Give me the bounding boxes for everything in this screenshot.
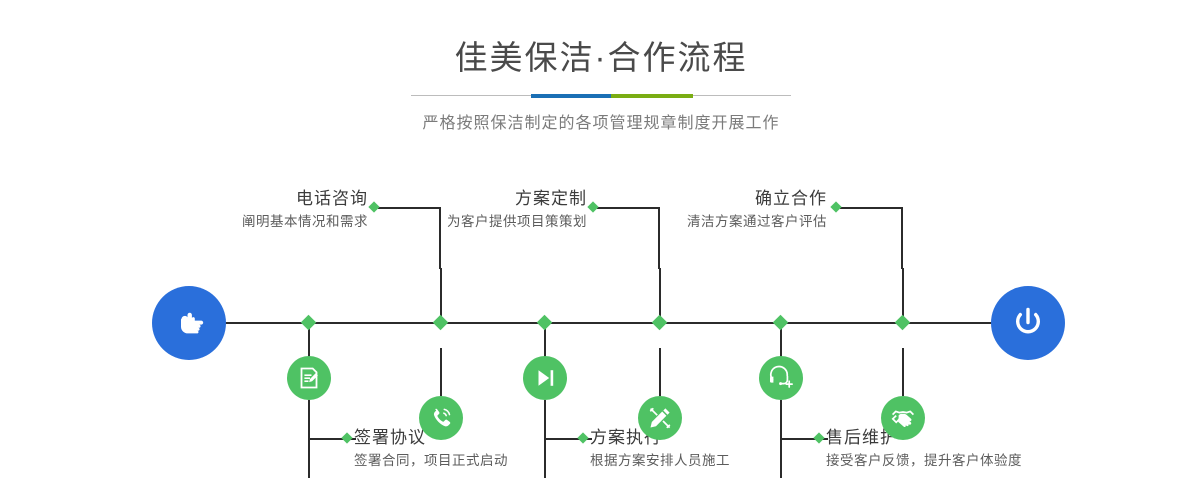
connector-horizontal-step-1 [378,207,441,209]
connector-elbow-step-3 [658,207,660,269]
step-label-6: 售后维护 接受客户反馈，提升客户体验度 [826,427,1116,471]
step-label-5: 确立合作 清洁方案通过客户评估 [580,188,827,232]
step-desc-4: 根据方案安排人员施工 [590,449,850,471]
label-marker-step-2 [341,432,352,443]
axis-marker-step-6 [773,315,789,331]
step-label-1: 电话咨询 阐明基本情况和需求 [120,188,368,232]
timeline-end-node [991,286,1065,360]
header: 佳美保洁·合作流程 严格按照保洁制定的各项管理规章制度开展工作 [0,0,1202,133]
handshake-icon [890,405,916,431]
connector-vertical-step-3-lower [659,348,661,396]
step-node-1[interactable] [419,396,463,440]
page-title: 佳美保洁·合作流程 [0,0,1202,80]
divider-segment-blue [531,94,611,98]
connector-vertical-step-1-lower [440,348,442,396]
connector-vertical-step-5-lower [902,348,904,396]
step-node-2[interactable] [287,356,331,400]
title-divider [411,92,791,100]
pointing-hand-icon [169,303,209,343]
divider-segment-green [611,94,693,98]
play-next-icon [532,365,558,391]
process-timeline: 电话咨询 阐明基本情况和需求 签署协议 签署合同，项目正式启动 [0,160,1202,502]
step-desc-2: 签署合同，项目正式启动 [354,449,614,471]
connector-elbow-step-5 [901,207,903,269]
connector-elbow-step-1 [439,207,441,269]
step-node-4[interactable] [523,356,567,400]
axis-marker-step-1 [433,315,449,331]
step-label-3: 方案定制 为客户提供项目策策划 [340,188,587,232]
step-desc-3: 为客户提供项目策策划 [340,210,587,232]
step-desc-5: 清洁方案通过客户评估 [580,210,827,232]
axis-marker-step-5 [895,315,911,331]
label-marker-step-5 [830,201,841,212]
document-edit-icon [296,365,322,391]
axis-marker-step-2 [301,315,317,331]
power-icon [1007,302,1049,344]
phone-call-icon [428,405,454,431]
step-desc-6: 接受客户反馈，提升客户体验度 [826,449,1116,471]
axis-marker-step-3 [652,315,668,331]
timeline-start-node [152,286,226,360]
step-label-2: 签署协议 签署合同，项目正式启动 [354,427,614,471]
step-node-3[interactable] [638,396,682,440]
pencil-ruler-icon [647,405,673,431]
step-title-1: 电话咨询 [120,188,368,210]
page-subtitle: 严格按照保洁制定的各项管理规章制度开展工作 [0,100,1202,133]
step-node-6[interactable] [759,356,803,400]
step-node-5[interactable] [881,396,925,440]
axis-marker-step-4 [537,315,553,331]
step-label-4: 方案执行 根据方案安排人员施工 [590,427,850,471]
connector-horizontal-step-3 [597,207,660,209]
step-title-6: 售后维护 [826,427,1116,449]
cooperation-process-infographic: 佳美保洁·合作流程 严格按照保洁制定的各项管理规章制度开展工作 [0,0,1202,502]
connector-horizontal-step-5 [840,207,903,209]
step-desc-1: 阐明基本情况和需求 [120,210,368,232]
headset-add-icon [768,365,794,391]
